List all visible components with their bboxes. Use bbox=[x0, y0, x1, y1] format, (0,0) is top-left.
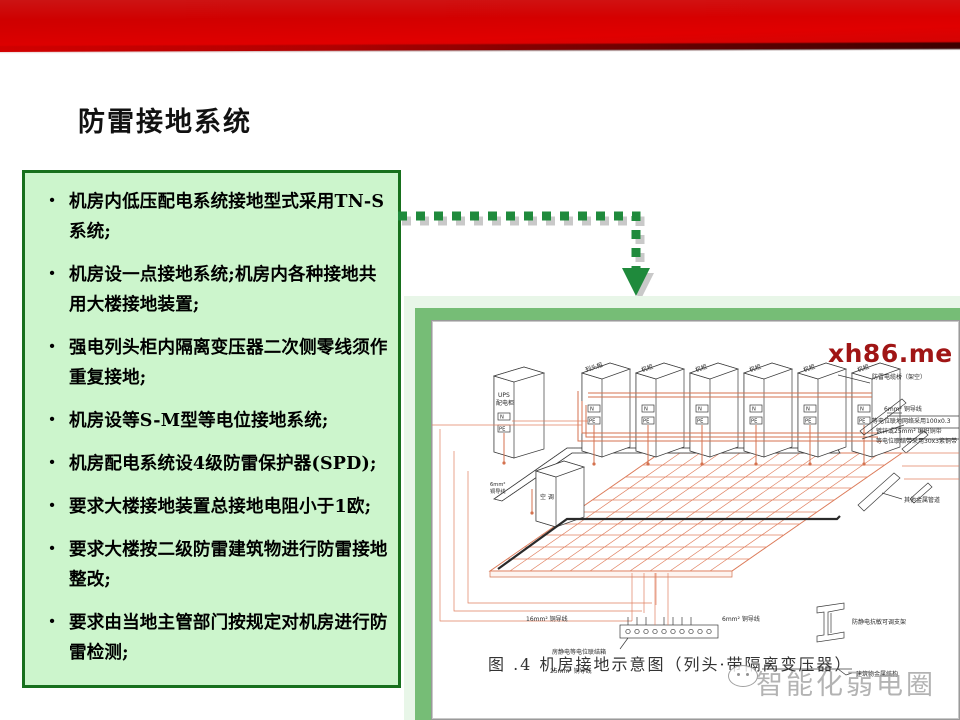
cabinet-head: 列头柜 N PE bbox=[582, 361, 630, 466]
svg-text:PE: PE bbox=[643, 419, 649, 425]
list-item-text: 机房配电系统设4级防雷保护器(SPD); bbox=[69, 449, 388, 479]
svg-text:PE: PE bbox=[499, 427, 505, 433]
page-title: 防雷接地系统 bbox=[78, 100, 252, 139]
watermark-url: xh86.me bbox=[828, 339, 953, 368]
bullet-list: • 机房内低压配电系统接地型式采用TN-S 系统; • 机房设一点接地系统;机房… bbox=[35, 187, 388, 668]
annotation-net-3: 等电位联结带采用30x3紫铜带 bbox=[876, 437, 957, 445]
diagram-panel: .ln { fill:none; stroke:#3a3a3a; stroke-… bbox=[431, 320, 960, 720]
list-item-text: 机房设等S-M型等电位接地系统; bbox=[69, 406, 388, 436]
list-item-text: 机房内低压配电系统接地型式采用TN-S 系统; bbox=[69, 187, 388, 247]
svg-text:N: N bbox=[644, 407, 648, 413]
annotation-6mm-bottom: 6mm² 铜导线 bbox=[722, 615, 760, 623]
svg-text:配电柜: 配电柜 bbox=[496, 399, 514, 407]
annotation-pipe: 其他金属管道 bbox=[904, 496, 940, 504]
annotation-net-1: 等电位联地网络采用100x0.3 bbox=[872, 417, 951, 425]
list-item: • 机房配电系统设4级防雷保护器(SPD); bbox=[35, 449, 388, 479]
list-item: • 要求由当地主管部门按规定对机房进行防雷检测; bbox=[35, 608, 388, 668]
svg-text:PE: PE bbox=[805, 419, 811, 425]
svg-text:铜导线: 铜导线 bbox=[490, 487, 506, 495]
svg-text:PE: PE bbox=[859, 419, 865, 425]
bullet-marker-icon: • bbox=[35, 535, 69, 563]
brand-logo-icon bbox=[728, 665, 758, 687]
cabinet-rack: 机柜 N PE bbox=[798, 363, 846, 466]
list-item-text: 机房设一点接地系统;机房内各种接地共用大楼接地装置; bbox=[69, 260, 388, 320]
wire-label-left: 6mm² bbox=[490, 482, 506, 488]
bullet-marker-icon: • bbox=[35, 260, 69, 288]
svg-text:N: N bbox=[500, 415, 504, 421]
bullet-marker-icon: • bbox=[35, 187, 69, 215]
ac-unit: 空 调 bbox=[530, 461, 584, 527]
bullet-box: • 机房内低压配电系统接地型式采用TN-S 系统; • 机房设一点接地系统;机房… bbox=[22, 170, 401, 688]
list-item: • 强电列头柜内隔离变压器二次侧零线须作重复接地; bbox=[35, 333, 388, 393]
bullet-marker-icon: • bbox=[35, 406, 69, 434]
svg-text:N: N bbox=[590, 407, 594, 413]
list-item: • 机房设等S-M型等电位接地系统; bbox=[35, 406, 388, 436]
svg-text:PE: PE bbox=[751, 419, 757, 425]
list-item: • 要求大楼按二级防雷建筑物进行防雷接地整改; bbox=[35, 535, 388, 595]
svg-text:N: N bbox=[860, 407, 864, 413]
bullet-marker-icon: • bbox=[35, 449, 69, 477]
svg-text:空 调: 空 调 bbox=[540, 493, 554, 501]
ups-cabinet: UPS 配电柜 N PE bbox=[494, 367, 544, 465]
annotation-support: 防静电抗敏可调支架 bbox=[852, 618, 906, 626]
list-item-text: 要求大楼接地装置总接地电阻小于1欧; bbox=[69, 492, 388, 522]
bullet-marker-icon: • bbox=[35, 608, 69, 636]
watermark-brand: 智能化弱电圈 bbox=[756, 663, 936, 702]
svg-text:UPS: UPS bbox=[498, 392, 510, 399]
list-item: • 机房内低压配电系统接地型式采用TN-S 系统; bbox=[35, 187, 388, 247]
adjustable-support-icon bbox=[817, 603, 844, 642]
svg-text:PE: PE bbox=[589, 419, 595, 425]
bullet-marker-icon: • bbox=[35, 333, 69, 361]
svg-text:N: N bbox=[698, 407, 702, 413]
list-item-text: 要求由当地主管部门按规定对机房进行防雷检测; bbox=[69, 608, 388, 668]
annotation-6mm: 6mm² 铜导线 bbox=[884, 405, 922, 413]
svg-text:N: N bbox=[806, 407, 810, 413]
annotation-cable-tray: 防雷电缆桥（架空） bbox=[872, 373, 926, 381]
bullet-marker-icon: • bbox=[35, 492, 69, 520]
list-item-text: 强电列头柜内隔离变压器二次侧零线须作重复接地; bbox=[69, 333, 388, 393]
svg-text:PE: PE bbox=[697, 419, 703, 425]
annotation-16mm: 16mm² 铜导线 bbox=[526, 615, 568, 623]
svg-text:N: N bbox=[752, 407, 756, 413]
list-item: • 要求大楼接地装置总接地电阻小于1欧; bbox=[35, 492, 388, 522]
list-item-text: 要求大楼按二级防雷建筑物进行防雷接地整改; bbox=[69, 535, 388, 595]
slide-root: 防雷接地系统 • 机房内低压配电系统接地型式采用TN-S 系统; • 机房设一点… bbox=[0, 0, 960, 720]
list-item: • 机房设一点接地系统;机房内各种接地共用大楼接地装置; bbox=[35, 260, 388, 320]
